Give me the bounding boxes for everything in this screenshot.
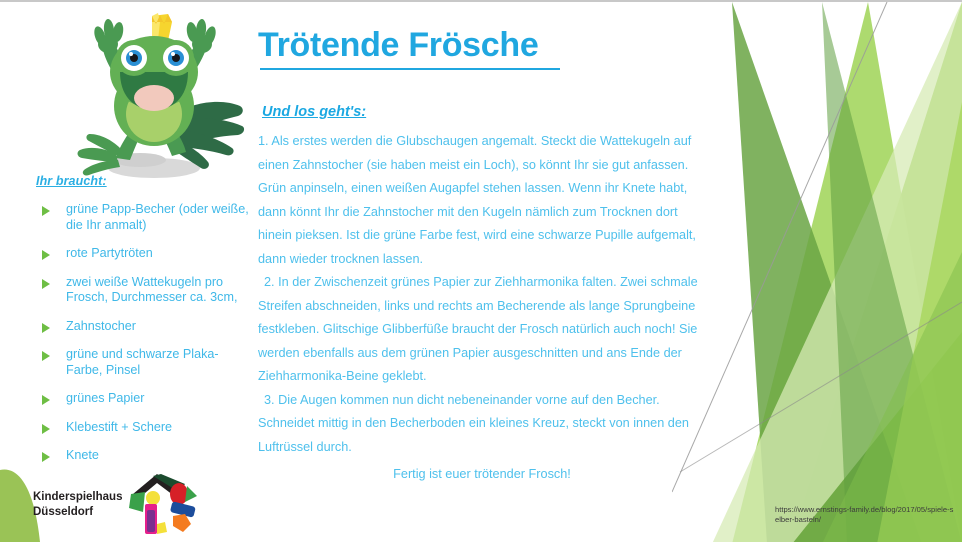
list-item-label: rote Partytröten <box>66 246 153 260</box>
source-url[interactable]: https://www.ernstings-family.de/blog/201… <box>775 505 955 525</box>
logo-line-2: Düsseldorf <box>33 505 122 520</box>
instructions-body: 1. Als erstes werden die Glubschaugen an… <box>258 130 706 487</box>
materials-list: grüne Papp-Becher (oder weiße, die Ihr a… <box>36 202 254 464</box>
logo-mark-icon <box>123 474 205 541</box>
step-paragraph: 2. In der Zwischenzeit grünes Papier zur… <box>258 271 706 389</box>
list-item: Klebestift + Schere <box>36 420 254 436</box>
list-item-label: grüne und schwarze Plaka-Farbe, Pinsel <box>66 347 219 377</box>
triangle-bullet-icon <box>42 206 50 216</box>
list-item: grünes Papier <box>36 391 254 407</box>
materials-section: Ihr braucht: grüne Papp-Becher (oder wei… <box>36 174 254 477</box>
triangle-bullet-icon <box>42 250 50 260</box>
triangle-bullet-icon <box>42 452 50 462</box>
list-item-label: Klebestift + Schere <box>66 420 172 434</box>
list-item-label: zwei weiße Wattekugeln pro Frosch, Durch… <box>66 275 237 305</box>
page-title: Trötende Frösche <box>258 26 538 65</box>
list-item-label: Zahnstocher <box>66 319 136 333</box>
step-paragraph: 1. Als erstes werden die Glubschaugen an… <box>258 130 706 271</box>
list-item-label: Knete <box>66 448 99 462</box>
list-item: zwei weiße Wattekugeln pro Frosch, Durch… <box>36 275 254 306</box>
kinderspielhaus-logo: Kinderspielhaus Düsseldorf <box>30 478 210 536</box>
steps-heading: Und los geht's: <box>262 104 366 120</box>
list-item: rote Partytröten <box>36 246 254 262</box>
logo-line-1: Kinderspielhaus <box>33 490 122 505</box>
list-item-label: grünes Papier <box>66 391 144 405</box>
materials-heading: Ihr braucht: <box>36 174 254 188</box>
title-underline <box>260 68 560 70</box>
facet-decoration <box>672 2 962 542</box>
triangle-bullet-icon <box>42 424 50 434</box>
list-item: Zahnstocher <box>36 319 254 335</box>
list-item: grüne Papp-Becher (oder weiße, die Ihr a… <box>36 202 254 233</box>
closing-line: Fertig ist euer trötender Frosch! <box>258 463 706 487</box>
list-item: Knete <box>36 448 254 464</box>
presentation-slide: Ihr braucht: grüne Papp-Becher (oder wei… <box>0 0 962 542</box>
triangle-bullet-icon <box>42 279 50 289</box>
step-paragraph: 3. Die Augen kommen nun dicht nebeneinan… <box>258 389 706 460</box>
list-item-label: grüne Papp-Becher (oder weiße, die Ihr a… <box>66 202 249 232</box>
list-item: grüne und schwarze Plaka-Farbe, Pinsel <box>36 347 254 378</box>
triangle-bullet-icon <box>42 323 50 333</box>
logo-text: Kinderspielhaus Düsseldorf <box>33 490 122 519</box>
triangle-bullet-icon <box>42 395 50 405</box>
frog-illustration <box>72 10 252 188</box>
triangle-bullet-icon <box>42 351 50 361</box>
